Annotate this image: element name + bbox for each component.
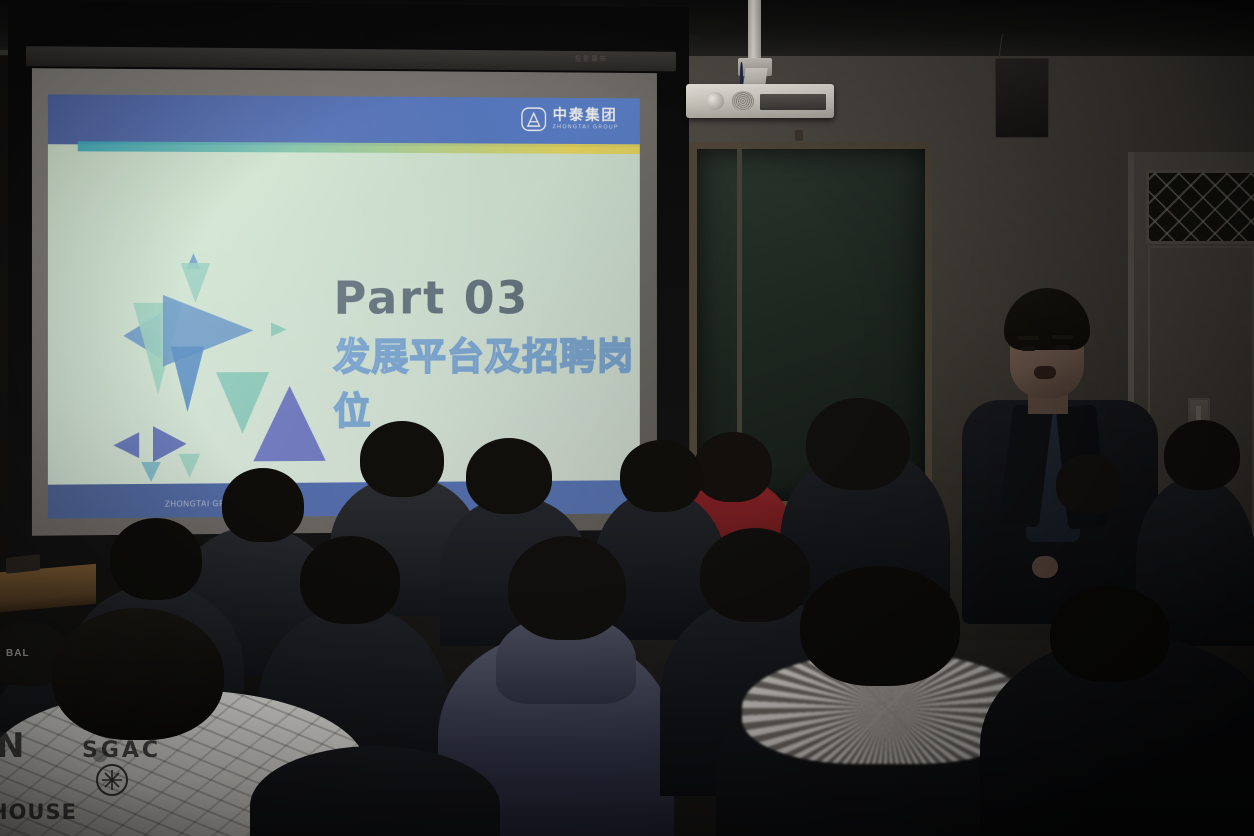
blackboard-hook [795, 130, 803, 141]
projector-vent-icon [732, 91, 754, 111]
audience-head-foreground [52, 608, 224, 740]
company-logo: 中泰集团 ZHONGTAI GROUP [520, 105, 619, 133]
ceiling-projector [686, 84, 834, 118]
audience-head [222, 468, 304, 542]
audience-head [700, 528, 810, 622]
audience-head [110, 518, 202, 600]
screen-rail-label: 投影幕布 [575, 54, 607, 64]
decor-triangle [271, 323, 287, 337]
audience-head [806, 398, 910, 490]
audience-head [300, 536, 400, 624]
presenter-brow-left [1018, 336, 1039, 340]
lattice-transom-window [1146, 170, 1254, 244]
classroom-scene: 投影幕布 中泰集团 ZHONG [0, 0, 1254, 836]
presenter-eye-right [1055, 345, 1070, 350]
lattice-grill-icon [1149, 173, 1254, 241]
presenter-eye-left [1021, 346, 1036, 351]
audience-head [508, 536, 626, 640]
audience-head [466, 438, 552, 514]
wall-speaker [995, 58, 1049, 138]
presenter-hair [1004, 288, 1090, 350]
jacket-text-n: N [0, 726, 24, 766]
slide-part-title: Part 03 [334, 271, 640, 324]
audience-head [360, 421, 444, 497]
presenter-mouth [1034, 366, 1056, 379]
projector-lens-icon [706, 92, 724, 110]
audience-head [1050, 586, 1170, 682]
presenter-brow-right [1052, 335, 1073, 339]
decor-triangle [181, 263, 211, 303]
audience-head [1056, 454, 1122, 514]
jacket-text-house: HOUSE [0, 800, 77, 824]
audience-head [694, 432, 772, 502]
audience-head [620, 440, 702, 512]
slide-title-block: Part 03 发展平台及招聘岗位 [334, 271, 640, 435]
logo-cn-text: 中泰集团 [553, 108, 619, 123]
audience-head [1164, 420, 1240, 490]
jacket-text-sgac: SGAC [82, 738, 161, 763]
cap-text: BAL [6, 648, 30, 659]
slide-header-bar: 中泰集团 ZHONGTAI GROUP [48, 94, 640, 147]
audience: BAL N SGAC HOUSE [0, 416, 1254, 836]
triangle-a-mark-icon [520, 105, 547, 133]
projector-port-panel [760, 94, 826, 110]
logo-en-text: ZHONGTAI GROUP [553, 125, 619, 131]
decor-triangle [171, 347, 204, 413]
audience-head [800, 566, 960, 686]
jacket-circle-star-icon [94, 762, 130, 798]
projector-mount-pole [748, 0, 761, 66]
